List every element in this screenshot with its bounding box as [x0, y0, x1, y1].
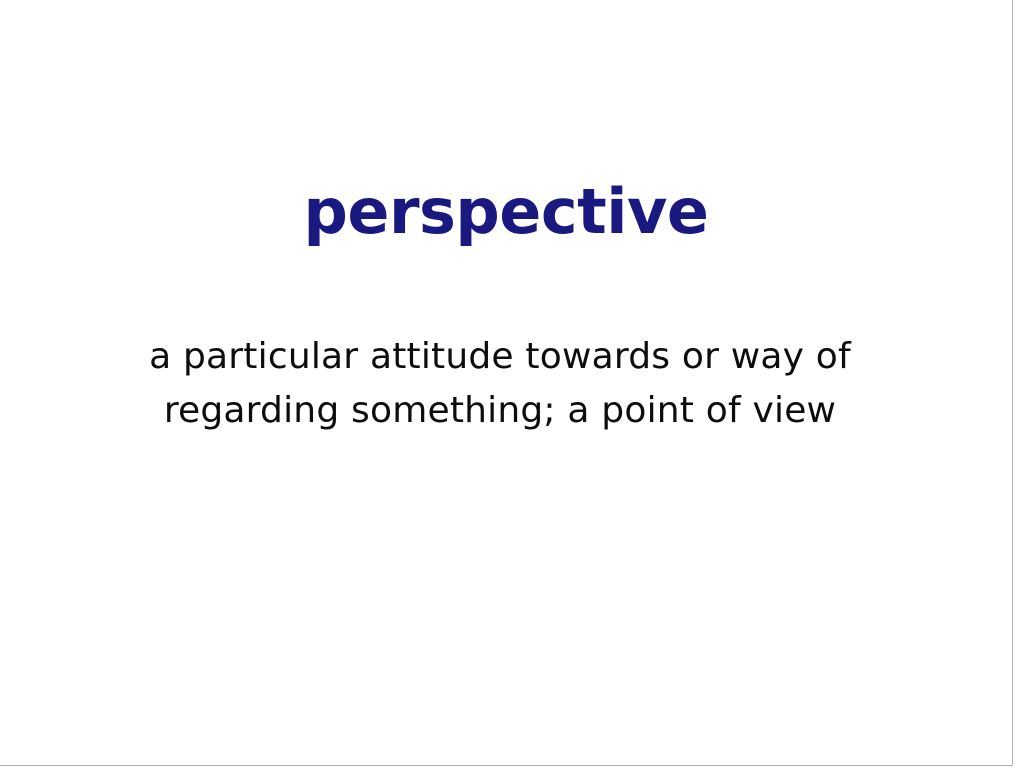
slide-empty-area [0, 450, 1012, 765]
slide-bottom-border [0, 765, 1013, 766]
slide-canvas: perspective a particular attitude toward… [0, 0, 1024, 768]
slide-title-placeholder: perspective [0, 176, 1012, 248]
definition-line-2: regarding something; a point of view [0, 384, 1000, 438]
slide-title: perspective [304, 176, 709, 248]
slide-definition-placeholder: a particular attitude towards or way of … [0, 330, 1000, 438]
slide-right-border [1012, 0, 1013, 766]
definition-line-1: a particular attitude towards or way of [0, 330, 1000, 384]
